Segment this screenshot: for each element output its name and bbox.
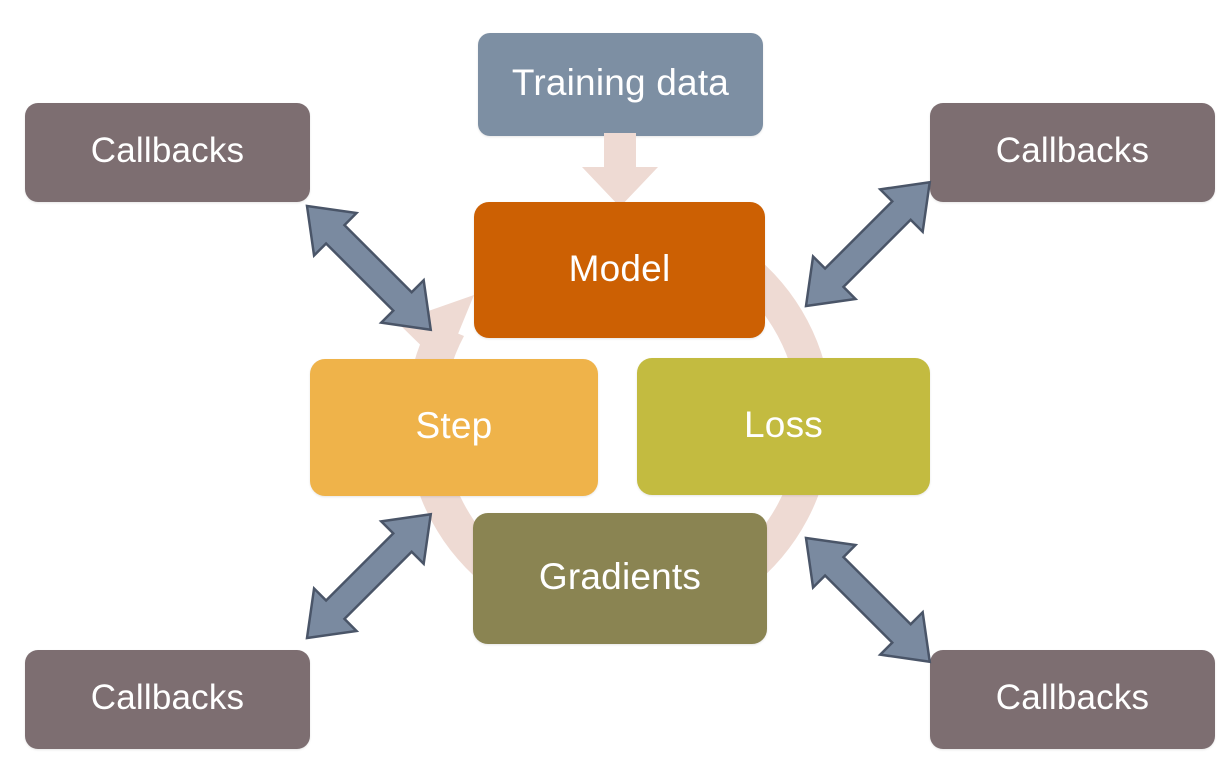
node-training-data-label: Training data [512, 64, 729, 105]
node-loss-label: Loss [744, 406, 823, 447]
node-callback-top-left[interactable]: Callbacks [25, 103, 310, 202]
node-callback-top-right-label: Callbacks [996, 133, 1150, 172]
node-callback-bottom-left-label: Callbacks [91, 680, 245, 719]
node-step[interactable]: Step [310, 359, 598, 496]
node-callback-bottom-left[interactable]: Callbacks [25, 650, 310, 749]
callback-link-top-right[interactable] [785, 161, 951, 327]
callback-link-top-left[interactable] [286, 185, 452, 351]
node-callback-top-left-label: Callbacks [91, 133, 245, 172]
node-gradients-label: Gradients [539, 558, 701, 599]
callback-link-bottom-right[interactable] [785, 517, 951, 683]
training-data-to-model-arrow [582, 133, 658, 207]
diagram-canvas: Training data Model Step Loss Gradients … [0, 0, 1229, 777]
node-loss[interactable]: Loss [637, 358, 930, 495]
node-gradients[interactable]: Gradients [473, 513, 767, 644]
node-model[interactable]: Model [474, 202, 765, 338]
node-model-label: Model [569, 250, 671, 291]
node-step-label: Step [416, 407, 493, 448]
node-callback-bottom-right-label: Callbacks [996, 680, 1150, 719]
node-callback-top-right[interactable]: Callbacks [930, 103, 1215, 202]
callback-link-bottom-left[interactable] [286, 493, 452, 659]
node-callback-bottom-right[interactable]: Callbacks [930, 650, 1215, 749]
node-training-data[interactable]: Training data [478, 33, 763, 136]
